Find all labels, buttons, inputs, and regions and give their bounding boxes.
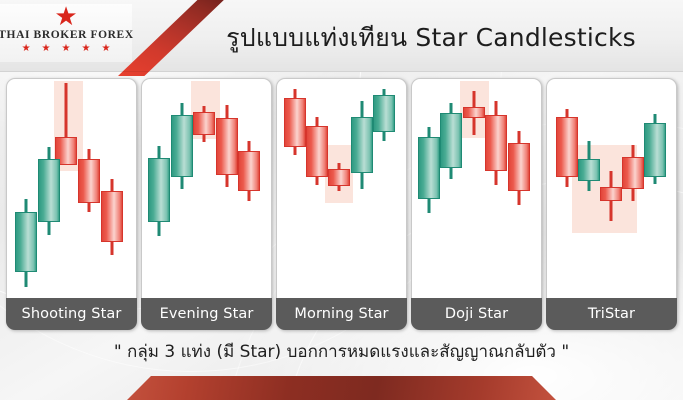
star-rating-icons: ★ ★ ★ ★ ★	[22, 44, 111, 54]
candle-body	[148, 158, 170, 222]
candlestick-up	[644, 79, 666, 298]
candle-body	[440, 113, 462, 168]
candlestick-down	[556, 79, 578, 298]
candlestick-up	[373, 79, 395, 298]
candlestick-chart	[411, 78, 542, 298]
candle-body	[644, 123, 666, 177]
candlestick-up	[171, 79, 193, 298]
pattern-panel-row: Shooting StarEvening StarMorning StarDoj…	[6, 78, 677, 330]
candlestick-down	[284, 79, 306, 298]
candle-body	[556, 117, 578, 177]
pattern-panel[interactable]: Evening Star	[141, 78, 272, 330]
pattern-panel[interactable]: Shooting Star	[6, 78, 137, 330]
star-icon-small: ★	[101, 44, 110, 54]
footer-ribbon-decoration	[125, 376, 558, 400]
pattern-label: Shooting Star	[6, 298, 137, 330]
candlestick-down	[306, 79, 328, 298]
candle-body	[485, 115, 507, 171]
candlestick-up	[578, 79, 600, 298]
pattern-label: TriStar	[546, 298, 677, 330]
candlestick-up	[148, 79, 170, 298]
candlestick-up	[15, 79, 37, 298]
candlestick-down	[101, 79, 123, 298]
pattern-label: Doji Star	[411, 298, 542, 330]
candle-body	[216, 118, 238, 175]
candlestick-down	[485, 79, 507, 298]
candle-body	[373, 95, 395, 132]
candlestick-down	[216, 79, 238, 298]
candle-body	[193, 112, 215, 135]
candle-body	[38, 159, 60, 222]
star-icon-large: ★	[54, 6, 77, 28]
header-divider	[0, 71, 683, 72]
candlestick-down	[238, 79, 260, 298]
pattern-panel[interactable]: Doji Star	[411, 78, 542, 330]
candle-body	[15, 212, 37, 272]
candlestick-down	[508, 79, 530, 298]
star-icon-small: ★	[62, 44, 71, 54]
page-title: รูปแบบแท่งเทียน Star Candlesticks	[196, 14, 666, 62]
brand-name: THAI BROKER FOREX	[0, 29, 134, 41]
candle-body	[284, 98, 306, 147]
candle-body	[78, 159, 100, 203]
pattern-panel[interactable]: Morning Star	[276, 78, 407, 330]
candlestick-up	[440, 79, 462, 298]
candle-body	[578, 159, 600, 181]
candlestick-down	[463, 79, 485, 298]
candlestick-chart	[546, 78, 677, 298]
candle-body	[508, 143, 530, 191]
caption-text: " กลุ่ม 3 แท่ง (มี Star) บอกการหมดแรงและ…	[0, 336, 683, 366]
candlestick-chart	[6, 78, 137, 298]
candle-body	[351, 117, 373, 173]
candle-body	[101, 191, 123, 242]
star-icon-small: ★	[22, 44, 31, 54]
candlestick-up	[418, 79, 440, 298]
candlestick-chart	[141, 78, 272, 298]
header-banner: ★ THAI BROKER FOREX ★ ★ ★ ★ ★ รูปแบบแท่ง…	[0, 0, 683, 72]
candle-body	[328, 169, 350, 186]
candle-body	[622, 157, 644, 189]
pattern-label: Morning Star	[276, 298, 407, 330]
star-icon-small: ★	[81, 44, 90, 54]
candle-body	[463, 107, 485, 118]
brand-logo[interactable]: ★ THAI BROKER FOREX ★ ★ ★ ★ ★	[0, 4, 132, 62]
candlestick-up	[38, 79, 60, 298]
pattern-label: Evening Star	[141, 298, 272, 330]
candlestick-down	[193, 79, 215, 298]
candlestick-up	[351, 79, 373, 298]
candlestick-down	[622, 79, 644, 298]
candle-body	[238, 151, 260, 191]
candle-body	[600, 187, 622, 201]
candle-body	[418, 137, 440, 199]
candle-body	[171, 115, 193, 177]
candlestick-down	[600, 79, 622, 298]
pattern-panel[interactable]: TriStar	[546, 78, 677, 330]
star-icon-small: ★	[42, 44, 51, 54]
candle-body	[306, 126, 328, 177]
slide-canvas: ★ THAI BROKER FOREX ★ ★ ★ ★ ★ รูปแบบแท่ง…	[0, 0, 683, 400]
candle-wick	[65, 83, 68, 145]
candlestick-down	[78, 79, 100, 298]
candlestick-chart	[276, 78, 407, 298]
candlestick-down	[328, 79, 350, 298]
